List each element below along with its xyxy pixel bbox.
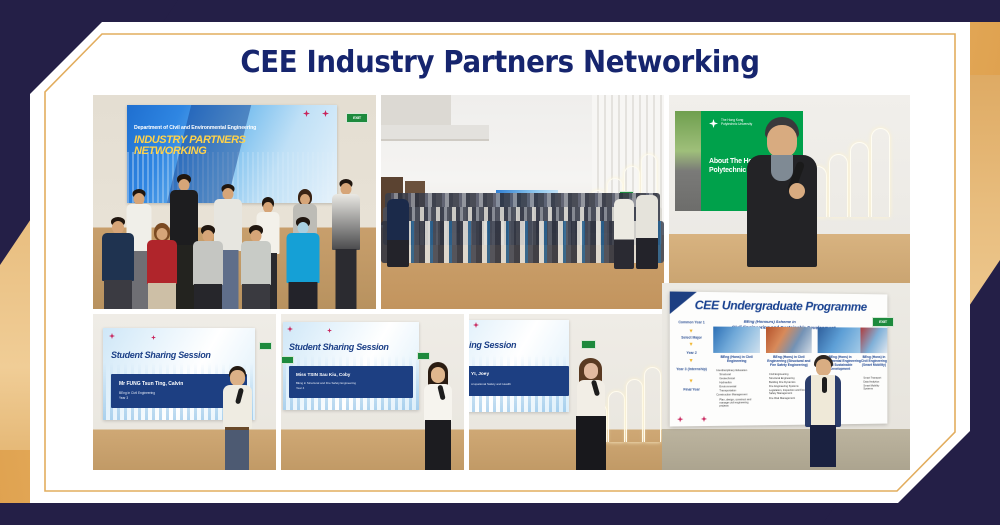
- column-images: [766, 327, 812, 353]
- cee-logo-icon: [322, 110, 329, 117]
- column-item: Interdisciplinary Education: [716, 369, 747, 372]
- chevron-down-icon: ▼: [688, 359, 694, 363]
- lane-step: Select Major: [674, 335, 709, 339]
- slide-photo-strip: [675, 111, 701, 211]
- lane-step: Common Year 1: [674, 320, 709, 324]
- cee-logo-icon: [151, 335, 156, 340]
- person-figure: [239, 225, 273, 309]
- sharing-slide-title: Student Sharing Session: [111, 350, 211, 360]
- person-figure-left-edge: [387, 199, 409, 267]
- sharing-speaker-name: Miss TSIN Sau Kiu, Coby: [296, 372, 350, 377]
- chevron-down-icon: ▼: [688, 343, 694, 347]
- cee-logo-icon: [327, 328, 332, 333]
- column-item: Building Fire Dynamics: [769, 381, 795, 384]
- column-item: Structural: [719, 373, 730, 376]
- chevron-down-icon: ▼: [688, 329, 694, 333]
- person-figure: [191, 225, 225, 309]
- torso: [102, 233, 134, 281]
- sharing-speaker-programme: BEng in Structural and Fire Safety Engin…: [296, 381, 356, 385]
- head: [157, 228, 168, 240]
- legs: [194, 284, 222, 309]
- exit-sign-icon: [259, 342, 272, 350]
- shirt-collar: [771, 155, 793, 181]
- banner-line-1: Department of Civil and Environmental En…: [134, 125, 256, 131]
- microphone-icon: [822, 377, 827, 393]
- person-figure: [101, 217, 135, 309]
- sharing-speaker-programme: ccupational Safety and Health: [471, 382, 511, 386]
- column-item: Civil Engineering: [769, 373, 788, 376]
- column-item: Transportation: [719, 389, 736, 392]
- column-item: Structural Engineering: [769, 377, 795, 380]
- legs: [810, 425, 836, 467]
- head: [584, 363, 598, 379]
- person-figure: [331, 179, 361, 309]
- sharing-name-bar: Miss TSIN Sau Kiu, Coby BEng in Structur…: [289, 366, 413, 398]
- legs: [242, 284, 270, 309]
- lane-step: Year 3 (Internship): [674, 367, 709, 371]
- photo-student-sharing-coby[interactable]: Student Sharing Session Miss TSIN Sau Ki…: [281, 314, 464, 470]
- person-figure-right-edge: [636, 195, 658, 269]
- photo-keynote-speaker[interactable]: The Hong KongPolytechnic University Abou…: [669, 95, 910, 288]
- column-item: Hydraulics: [719, 381, 731, 384]
- head: [816, 359, 831, 376]
- programme-column: BEng (Hons) in Civil Engineering (Smart …: [860, 328, 887, 415]
- speaker-figure: [571, 358, 611, 470]
- column-item: Fire Risk Management: [769, 397, 795, 400]
- sharing-slide: Student Sharing Session Miss TSIN Sau Ki…: [283, 322, 419, 410]
- torso: [577, 380, 605, 418]
- torso: [332, 194, 360, 250]
- column-item: Plan, design, construct and manage civil…: [719, 398, 758, 408]
- head: [431, 367, 445, 383]
- speaker-figure: [419, 362, 457, 470]
- sharing-name-bar: YI, Joey ccupational Safety and Health: [469, 366, 569, 396]
- polyu-logo-icon: [303, 110, 310, 117]
- speaker-figure: [745, 117, 819, 288]
- exit-sign-icon-left: [281, 356, 294, 364]
- speaker-figure: [802, 355, 844, 467]
- polyu-logo-icon: [709, 119, 718, 128]
- lane-step: Year 2: [674, 351, 709, 355]
- exit-sign-icon: EXIT: [872, 317, 894, 327]
- head: [230, 370, 245, 386]
- person-figure: [145, 223, 179, 309]
- arch-light-feature: [808, 125, 904, 217]
- legs: [289, 282, 318, 309]
- polyu-logo-icon: [473, 322, 479, 328]
- polyu-logo-icon: [109, 333, 115, 339]
- column-images: [818, 327, 863, 353]
- sharing-speaker-year: Year 4: [296, 386, 304, 390]
- slide-corner-accent: [670, 291, 697, 314]
- programme-slide-subtitle-1: BEng (Honours) Scheme in: [744, 319, 796, 324]
- exit-sign-icon: EXIT: [346, 113, 368, 123]
- sharing-slide-title: Student Sharing Session: [289, 342, 389, 352]
- photo-full-group-atrium[interactable]: [381, 95, 664, 309]
- column-item: Environmental: [719, 385, 736, 388]
- balcony-upper: [381, 95, 451, 125]
- programme-slide: CEE Undergraduate Programme BEng (Honour…: [670, 291, 888, 426]
- lane-step: Final Year: [674, 387, 709, 391]
- torso: [193, 241, 223, 285]
- legs: [225, 430, 249, 470]
- column-item: Smart Transport: [863, 377, 881, 380]
- page-title: CEE Industry Partners Networking: [40, 45, 960, 80]
- sharing-speaker-name: YI, Joey: [471, 372, 489, 377]
- sharing-slide: ing Session YI, Joey ccupational Safety …: [469, 320, 569, 412]
- sharing-speaker-name: Mr FUNG Tsun Ting, Calvin: [119, 381, 183, 387]
- column-item: Construction Management: [716, 393, 747, 396]
- speaker-figure: [219, 366, 255, 470]
- photo-student-sharing-calvin[interactable]: Student Sharing Session Mr FUNG Tsun Tin…: [93, 314, 276, 470]
- legs: [336, 249, 357, 309]
- hand: [789, 183, 805, 199]
- sharing-slide-title: ing Session: [469, 340, 516, 350]
- column-item: Smart Mobility Systems: [863, 384, 887, 390]
- content-layer: CEE Industry Partners Networking Departm…: [0, 0, 1000, 525]
- head: [767, 125, 797, 158]
- banner-logos: [303, 110, 329, 117]
- torso: [147, 240, 177, 284]
- sharing-speaker-year: Year 3: [119, 396, 128, 400]
- legs: [576, 416, 606, 470]
- torso: [287, 233, 320, 283]
- exit-sign-icon-right: [417, 352, 430, 360]
- banner-line-2: INDUSTRY PARTNERS NETWORKING: [134, 135, 246, 157]
- sharing-speaker-programme: BEng in Civil Engineering: [119, 391, 155, 395]
- person-figure: [285, 217, 321, 309]
- legs: [104, 280, 132, 309]
- chevron-down-icon: ▼: [688, 379, 694, 383]
- photo-cee-undergraduate-programme[interactable]: CEE Undergraduate Programme BEng (Honour…: [662, 283, 910, 470]
- legs: [425, 420, 451, 470]
- column-images: [860, 328, 887, 354]
- programme-column: BEng (Hons) in Civil Engineering Interdi…: [713, 327, 760, 416]
- person-figure-right-edge-2: [614, 199, 634, 269]
- column-item: Data Analytics: [863, 381, 879, 384]
- column-item: Fire Engineering Systems: [769, 385, 799, 388]
- photo-student-sharing-joey[interactable]: ing Session YI, Joey ccupational Safety …: [469, 314, 664, 470]
- column-item: Geotechnical: [719, 377, 734, 380]
- programme-slide-title: CEE Undergraduate Programme: [695, 298, 867, 314]
- legs: [148, 283, 176, 309]
- balcony-rail: [381, 125, 489, 141]
- column-images: [713, 327, 760, 353]
- photo-collage: Department of Civil and Environmental En…: [93, 95, 910, 470]
- column-heading: BEng (Hons) in Civil Engineering: [713, 355, 760, 363]
- exit-sign-icon: [581, 340, 596, 349]
- banner-line-3-text: NETWORKING: [134, 145, 206, 157]
- photo-group-banner[interactable]: Department of Civil and Environmental En…: [93, 95, 376, 309]
- polyu-logo-icon: [287, 326, 293, 332]
- torso: [241, 241, 271, 285]
- programme-year-lane: Common Year 1 ▼ Select Major ▼ Year 2 ▼ …: [674, 320, 709, 418]
- column-heading: BEng (Hons) in Civil Engineering (Smart …: [860, 355, 887, 367]
